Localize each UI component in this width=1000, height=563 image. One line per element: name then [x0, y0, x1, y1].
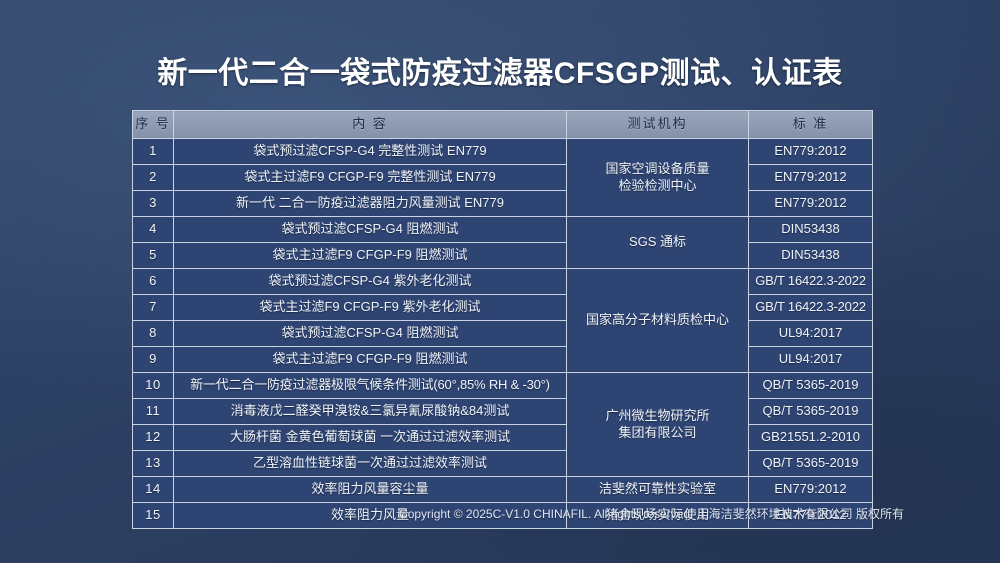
cell-organization: 国家高分子材料质检中心: [567, 269, 749, 373]
table-row: 7 袋式主过滤F9 CFGP-F9 紫外老化测试 GB/T 16422.3-20…: [133, 295, 873, 321]
organization-line-1: 广州微生物研究所: [567, 408, 748, 424]
cell-organization: 广州微生物研究所 集团有限公司: [567, 373, 749, 477]
table-row: 8 袋式预过滤CFSP-G4 阻燃测试 UL94:2017: [133, 321, 873, 347]
cell-standard: DIN53438: [749, 217, 873, 243]
column-header-no: 序 号: [133, 111, 174, 139]
cell-no: 2: [133, 165, 174, 191]
cell-content: 袋式主过滤F9 CFGP-F9 紫外老化测试: [174, 295, 567, 321]
cell-no: 5: [133, 243, 174, 269]
cell-standard: DIN53438: [749, 243, 873, 269]
cell-no: 6: [133, 269, 174, 295]
cell-content: 效率阻力风量容尘量: [174, 477, 567, 503]
cell-content: 袋式预过滤CFSP-G4 阻燃测试: [174, 217, 567, 243]
copyright-footer: Copyright © 2025C-V1.0 CHINAFIL. All rig…: [0, 505, 1000, 522]
certification-table: 序 号 内 容 测试机构 标 准 1 袋式预过滤CFSP-G4 完整性测试 EN…: [132, 110, 873, 529]
cell-no: 4: [133, 217, 174, 243]
organization-line-1: 国家空调设备质量: [567, 161, 748, 177]
table-row: 6 袋式预过滤CFSP-G4 紫外老化测试 国家高分子材料质检中心 GB/T 1…: [133, 269, 873, 295]
table-header-row: 序 号 内 容 测试机构 标 准: [133, 111, 873, 139]
cell-no: 11: [133, 399, 174, 425]
table-row: 3 新一代 二合一防疫过滤器阻力风量测试 EN779 EN779:2012: [133, 191, 873, 217]
cell-standard: GB21551.2-2010: [749, 425, 873, 451]
cell-standard: GB/T 16422.3-2022: [749, 295, 873, 321]
cell-content: 袋式主过滤F9 CFGP-F9 阻燃测试: [174, 347, 567, 373]
table-row: 4 袋式预过滤CFSP-G4 阻燃测试 SGS 通标 DIN53438: [133, 217, 873, 243]
column-header-content: 内 容: [174, 111, 567, 139]
cell-content: 消毒液戊二醛癸甲溴铵&三氯异氰尿酸钠&84测试: [174, 399, 567, 425]
cell-standard: UL94:2017: [749, 347, 873, 373]
cell-no: 9: [133, 347, 174, 373]
cell-standard: EN779:2012: [749, 165, 873, 191]
cell-standard: QB/T 5365-2019: [749, 399, 873, 425]
cell-standard: GB/T 16422.3-2022: [749, 269, 873, 295]
cell-content: 大肠杆菌 金黄色葡萄球菌 一次通过过滤效率测试: [174, 425, 567, 451]
cell-standard: EN779:2012: [749, 139, 873, 165]
cell-no: 3: [133, 191, 174, 217]
table-row: 9 袋式主过滤F9 CFGP-F9 阻燃测试 UL94:2017: [133, 347, 873, 373]
table-row: 11 消毒液戊二醛癸甲溴铵&三氯异氰尿酸钠&84测试 QB/T 5365-201…: [133, 399, 873, 425]
cell-no: 7: [133, 295, 174, 321]
cell-content: 乙型溶血性链球菌一次通过过滤效率测试: [174, 451, 567, 477]
cell-no: 10: [133, 373, 174, 399]
table-row: 12 大肠杆菌 金黄色葡萄球菌 一次通过过滤效率测试 GB21551.2-201…: [133, 425, 873, 451]
cell-no: 13: [133, 451, 174, 477]
cell-standard: QB/T 5365-2019: [749, 451, 873, 477]
cell-organization: SGS 通标: [567, 217, 749, 269]
table-row: 14 效率阻力风量容尘量 洁斐然可靠性实验室 EN779:2012: [133, 477, 873, 503]
cell-content: 新一代 二合一防疫过滤器阻力风量测试 EN779: [174, 191, 567, 217]
table-row: 10 新一代二合一防疫过滤器极限气候条件测试(60°,85% RH & -30°…: [133, 373, 873, 399]
table-row: 1 袋式预过滤CFSP-G4 完整性测试 EN779 国家空调设备质量 检验检测…: [133, 139, 873, 165]
organization-line-2: 检验检测中心: [567, 178, 748, 194]
cell-no: 12: [133, 425, 174, 451]
cell-organization: 国家空调设备质量 检验检测中心: [567, 139, 749, 217]
cell-content: 新一代二合一防疫过滤器极限气候条件测试(60°,85% RH & -30°): [174, 373, 567, 399]
column-header-organization: 测试机构: [567, 111, 749, 139]
cell-content: 袋式预过滤CFSP-G4 紫外老化测试: [174, 269, 567, 295]
cell-no: 1: [133, 139, 174, 165]
cell-standard: UL94:2017: [749, 321, 873, 347]
organization-line-1: 国家高分子材料质检中心: [567, 312, 748, 328]
column-header-standard: 标 准: [749, 111, 873, 139]
table-row: 13 乙型溶血性链球菌一次通过过滤效率测试 QB/T 5365-2019: [133, 451, 873, 477]
cell-standard: EN779:2012: [749, 477, 873, 503]
certification-table-container: 序 号 内 容 测试机构 标 准 1 袋式预过滤CFSP-G4 完整性测试 EN…: [132, 110, 872, 529]
cell-standard: QB/T 5365-2019: [749, 373, 873, 399]
cell-no: 14: [133, 477, 174, 503]
cell-content: 袋式预过滤CFSP-G4 完整性测试 EN779: [174, 139, 567, 165]
table-row: 2 袋式主过滤F9 CFGP-F9 完整性测试 EN779 EN779:2012: [133, 165, 873, 191]
page-title: 新一代二合一袋式防疫过滤器CFSGP测试、认证表: [0, 48, 1000, 92]
cell-organization: 洁斐然可靠性实验室: [567, 477, 749, 503]
slide: 新一代二合一袋式防疫过滤器CFSGP测试、认证表 序 号 内 容 测试机构 标 …: [0, 0, 1000, 563]
organization-line-2: 集团有限公司: [567, 425, 748, 441]
cell-content: 袋式预过滤CFSP-G4 阻燃测试: [174, 321, 567, 347]
cell-no: 8: [133, 321, 174, 347]
organization-line-1: SGS 通标: [567, 234, 748, 250]
cell-standard: EN779:2012: [749, 191, 873, 217]
table-row: 5 袋式主过滤F9 CFGP-F9 阻燃测试 DIN53438: [133, 243, 873, 269]
cell-content: 袋式主过滤F9 CFGP-F9 阻燃测试: [174, 243, 567, 269]
cell-content: 袋式主过滤F9 CFGP-F9 完整性测试 EN779: [174, 165, 567, 191]
